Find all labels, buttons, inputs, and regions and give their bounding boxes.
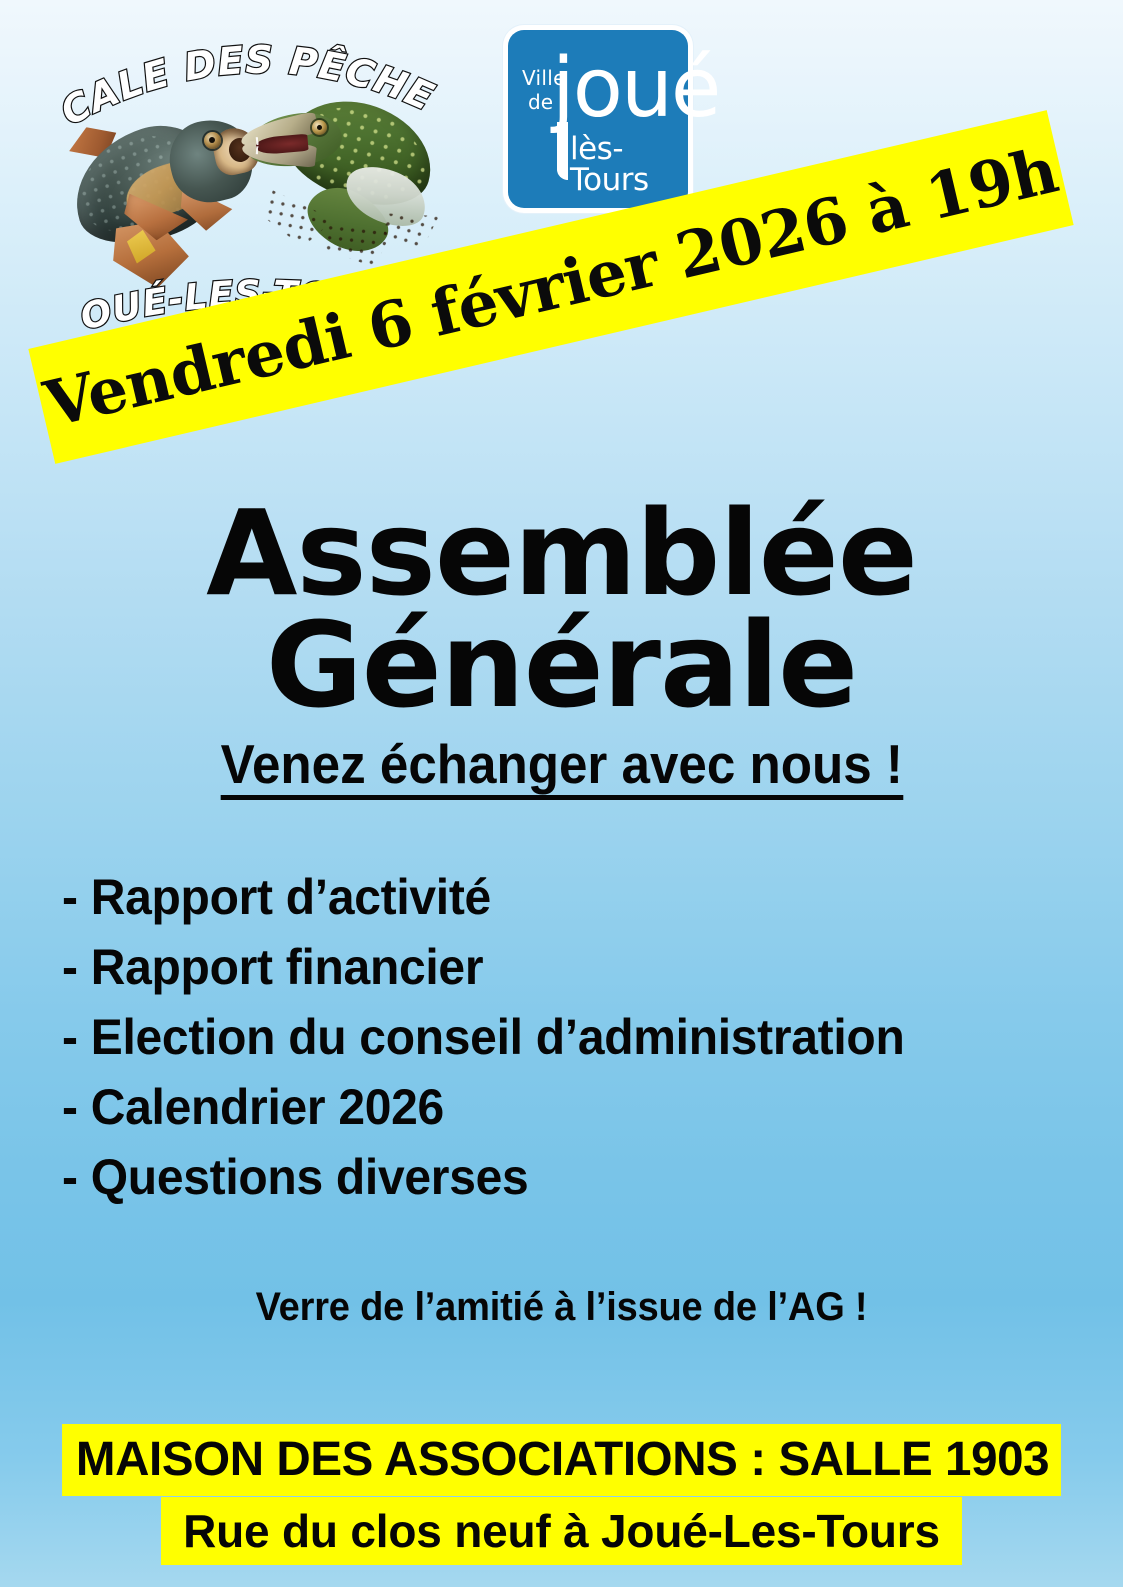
venue-address-text: Rue du clos neuf à Joué-Les-Tours <box>161 1497 962 1565</box>
ville-de-joue-les-tours-logo: Ville de joué lès-Tours <box>508 30 688 208</box>
carp-fish-icon <box>66 102 256 287</box>
page-title-line-1: Assemblée <box>0 497 1123 609</box>
agenda-list: - Rapport d’activité - Rapport financier… <box>62 862 1072 1212</box>
venue-line-2-wrapper: Rue du clos neuf à Joué-Les-Tours <box>0 1496 1123 1565</box>
city-logo-j-descender <box>557 122 568 180</box>
drink-note-text: Verre de l’amitié à l’issue de l’AG ! <box>28 1284 1095 1330</box>
venue-block: MAISON DES ASSOCIATIONS : SALLE 1903 Rue… <box>0 1424 1123 1565</box>
agenda-item: - Rapport d’activité <box>62 862 1032 932</box>
agenda-item: - Election du conseil d’administration <box>62 1002 1032 1072</box>
subtitle: Venez échanger avec nous ! <box>0 735 1123 800</box>
agenda-item: - Rapport financier <box>62 932 1032 1002</box>
pike-eye <box>312 120 327 135</box>
city-logo-les-tours-text: lès-Tours <box>570 134 688 196</box>
city-logo-de-text: de <box>528 92 553 112</box>
agenda-item: - Questions diverses <box>62 1142 1032 1212</box>
fish-illustration-pair <box>62 94 440 289</box>
venue-line-1-wrapper: MAISON DES ASSOCIATIONS : SALLE 1903 <box>0 1424 1123 1496</box>
page-title: Assemblée Générale <box>0 497 1123 721</box>
page-title-line-2: Générale <box>0 609 1123 721</box>
venue-hall-text: MAISON DES ASSOCIATIONS : SALLE 1903 <box>62 1424 1061 1496</box>
city-logo-joue-text: joué <box>552 48 719 130</box>
carp-eye <box>204 132 221 149</box>
subtitle-text: Venez échanger avec nous ! <box>220 735 902 800</box>
poster-root: AMICALE DES PÊCHEURS <box>0 0 1123 1587</box>
agenda-item: - Calendrier 2026 <box>62 1072 1032 1142</box>
